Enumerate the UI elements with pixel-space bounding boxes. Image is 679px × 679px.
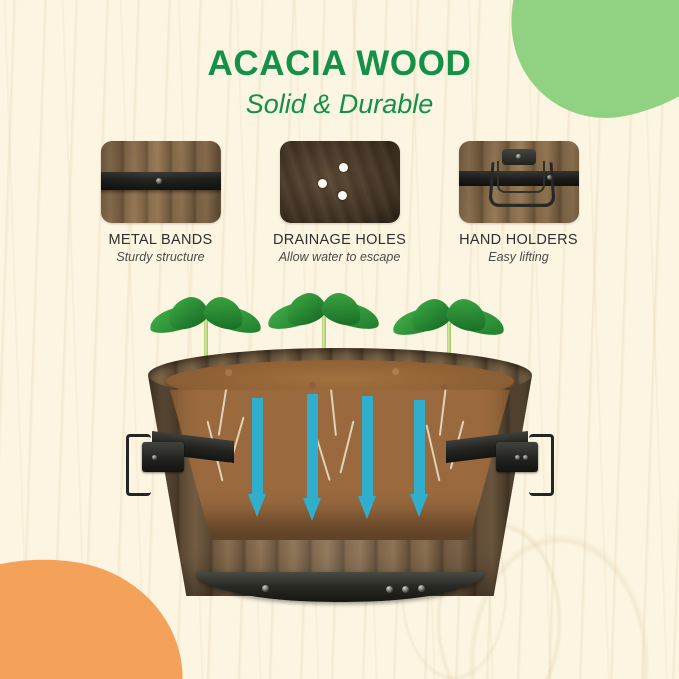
arrow-shaft [414,400,425,494]
arrow-shaft [252,398,263,494]
barrel-body [148,356,532,596]
rivet-icon [386,586,393,593]
feature-subtitle: Allow water to escape [279,250,401,264]
water-flow-arrow [358,396,376,519]
drainage-hole-icon [338,191,347,200]
rivet-icon [152,455,157,460]
infographic-canvas: ACACIA WOOD Solid & Durable METAL BANDS … [0,0,679,679]
heading-block: ACACIA WOOD Solid & Durable [0,44,679,120]
feature-card-drainage-holes: DRAINAGE HOLES Allow water to escape [280,141,400,264]
arrow-head-icon [248,494,266,517]
root-strand [339,421,354,474]
page-title: ACACIA WOOD [0,44,679,84]
feature-title: DRAINAGE HOLES [273,232,406,248]
metal-band-thumbnail [101,141,221,223]
root-strand [218,382,228,436]
thumbnail-shading [459,141,579,223]
rivet-icon [418,585,425,592]
feature-card-list: METAL BANDS Sturdy structure DRAINAGE HO… [0,141,679,264]
drainage-hole-icon [318,179,327,188]
handle-wire-loop [126,434,151,496]
arrow-shaft [362,396,373,496]
feature-title: METAL BANDS [108,232,212,248]
rivet-icon [523,455,528,460]
feature-card-hand-holders: HAND HOLDERS Easy lifting [459,141,579,264]
arrow-head-icon [358,496,376,519]
bottom-metal-band [196,572,484,602]
feature-subtitle: Sturdy structure [116,250,204,264]
feature-card-metal-bands: METAL BANDS Sturdy structure [101,141,221,264]
drainage-holes-thumbnail [280,141,400,223]
water-flow-arrow [248,398,266,517]
water-flow-arrow [410,400,428,517]
page-subtitle: Solid & Durable [0,89,679,120]
water-flow-arrow [303,394,321,521]
arrow-shaft [307,394,318,498]
root-strand [439,384,447,436]
rivet-icon [262,585,269,592]
side-handle-right[interactable] [496,430,554,494]
arrow-head-icon [303,498,321,521]
hand-holder-thumbnail [459,141,579,223]
thumbnail-shading [101,141,221,223]
arrow-head-icon [410,494,428,517]
side-handle-left[interactable] [126,430,184,494]
drainage-hole-icon [339,163,348,172]
rivet-icon [402,586,409,593]
handle-wire-loop [529,434,554,496]
rivet-icon [515,455,520,460]
feature-title: HAND HOLDERS [459,232,578,248]
barrel-planter-illustration [0,288,679,628]
feature-subtitle: Easy lifting [488,250,548,264]
